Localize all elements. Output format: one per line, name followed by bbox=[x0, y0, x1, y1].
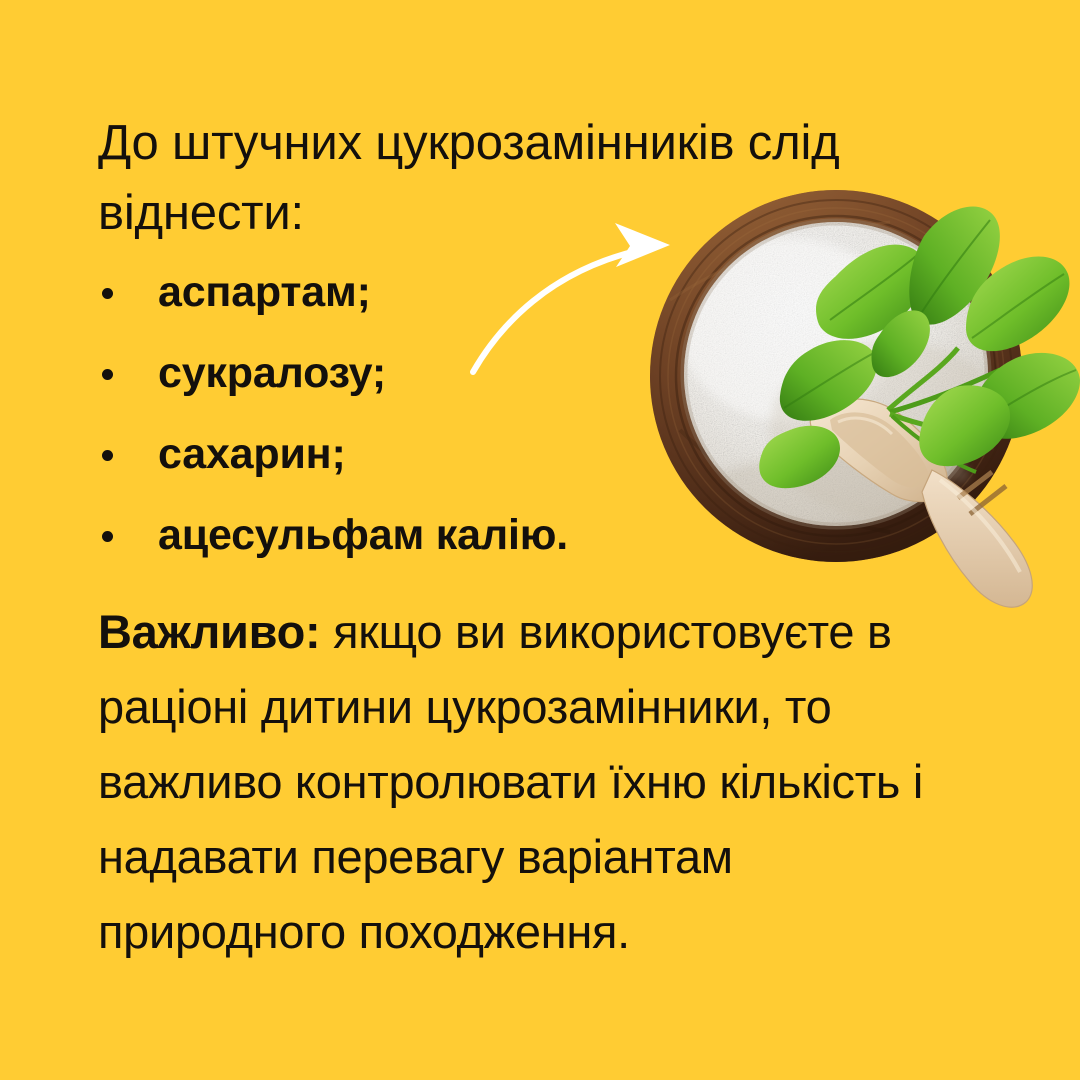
list-item-label: сукралозу; bbox=[158, 349, 386, 397]
bullet-dot-icon bbox=[102, 531, 113, 542]
page-title: До штучних цукрозамінників слід віднести… bbox=[98, 108, 898, 248]
list-item: аспартам; bbox=[98, 270, 998, 315]
list-item: сукралозу; bbox=[98, 351, 998, 396]
bullet-dot-icon bbox=[102, 450, 113, 461]
list-item: сахарин; bbox=[98, 432, 998, 477]
important-note: Важливо: якщо ви використовуєте в раціон… bbox=[98, 594, 988, 969]
bullet-dot-icon bbox=[102, 288, 113, 299]
important-note-lead: Важливо: bbox=[98, 605, 320, 658]
list-item: ацесульфам калію. bbox=[98, 513, 998, 558]
sweetener-list: аспартам; сукралозу; сахарин; ацесульфам… bbox=[98, 270, 998, 558]
list-item-label: сахарин; bbox=[158, 430, 346, 478]
list-item-label: аспартам; bbox=[158, 268, 371, 316]
infographic-slide: До штучних цукрозамінників слід віднести… bbox=[0, 0, 1080, 1080]
content-text-block: До штучних цукрозамінників слід віднести… bbox=[98, 108, 998, 1016]
bullet-dot-icon bbox=[102, 369, 113, 380]
list-item-label: ацесульфам калію. bbox=[158, 511, 568, 559]
